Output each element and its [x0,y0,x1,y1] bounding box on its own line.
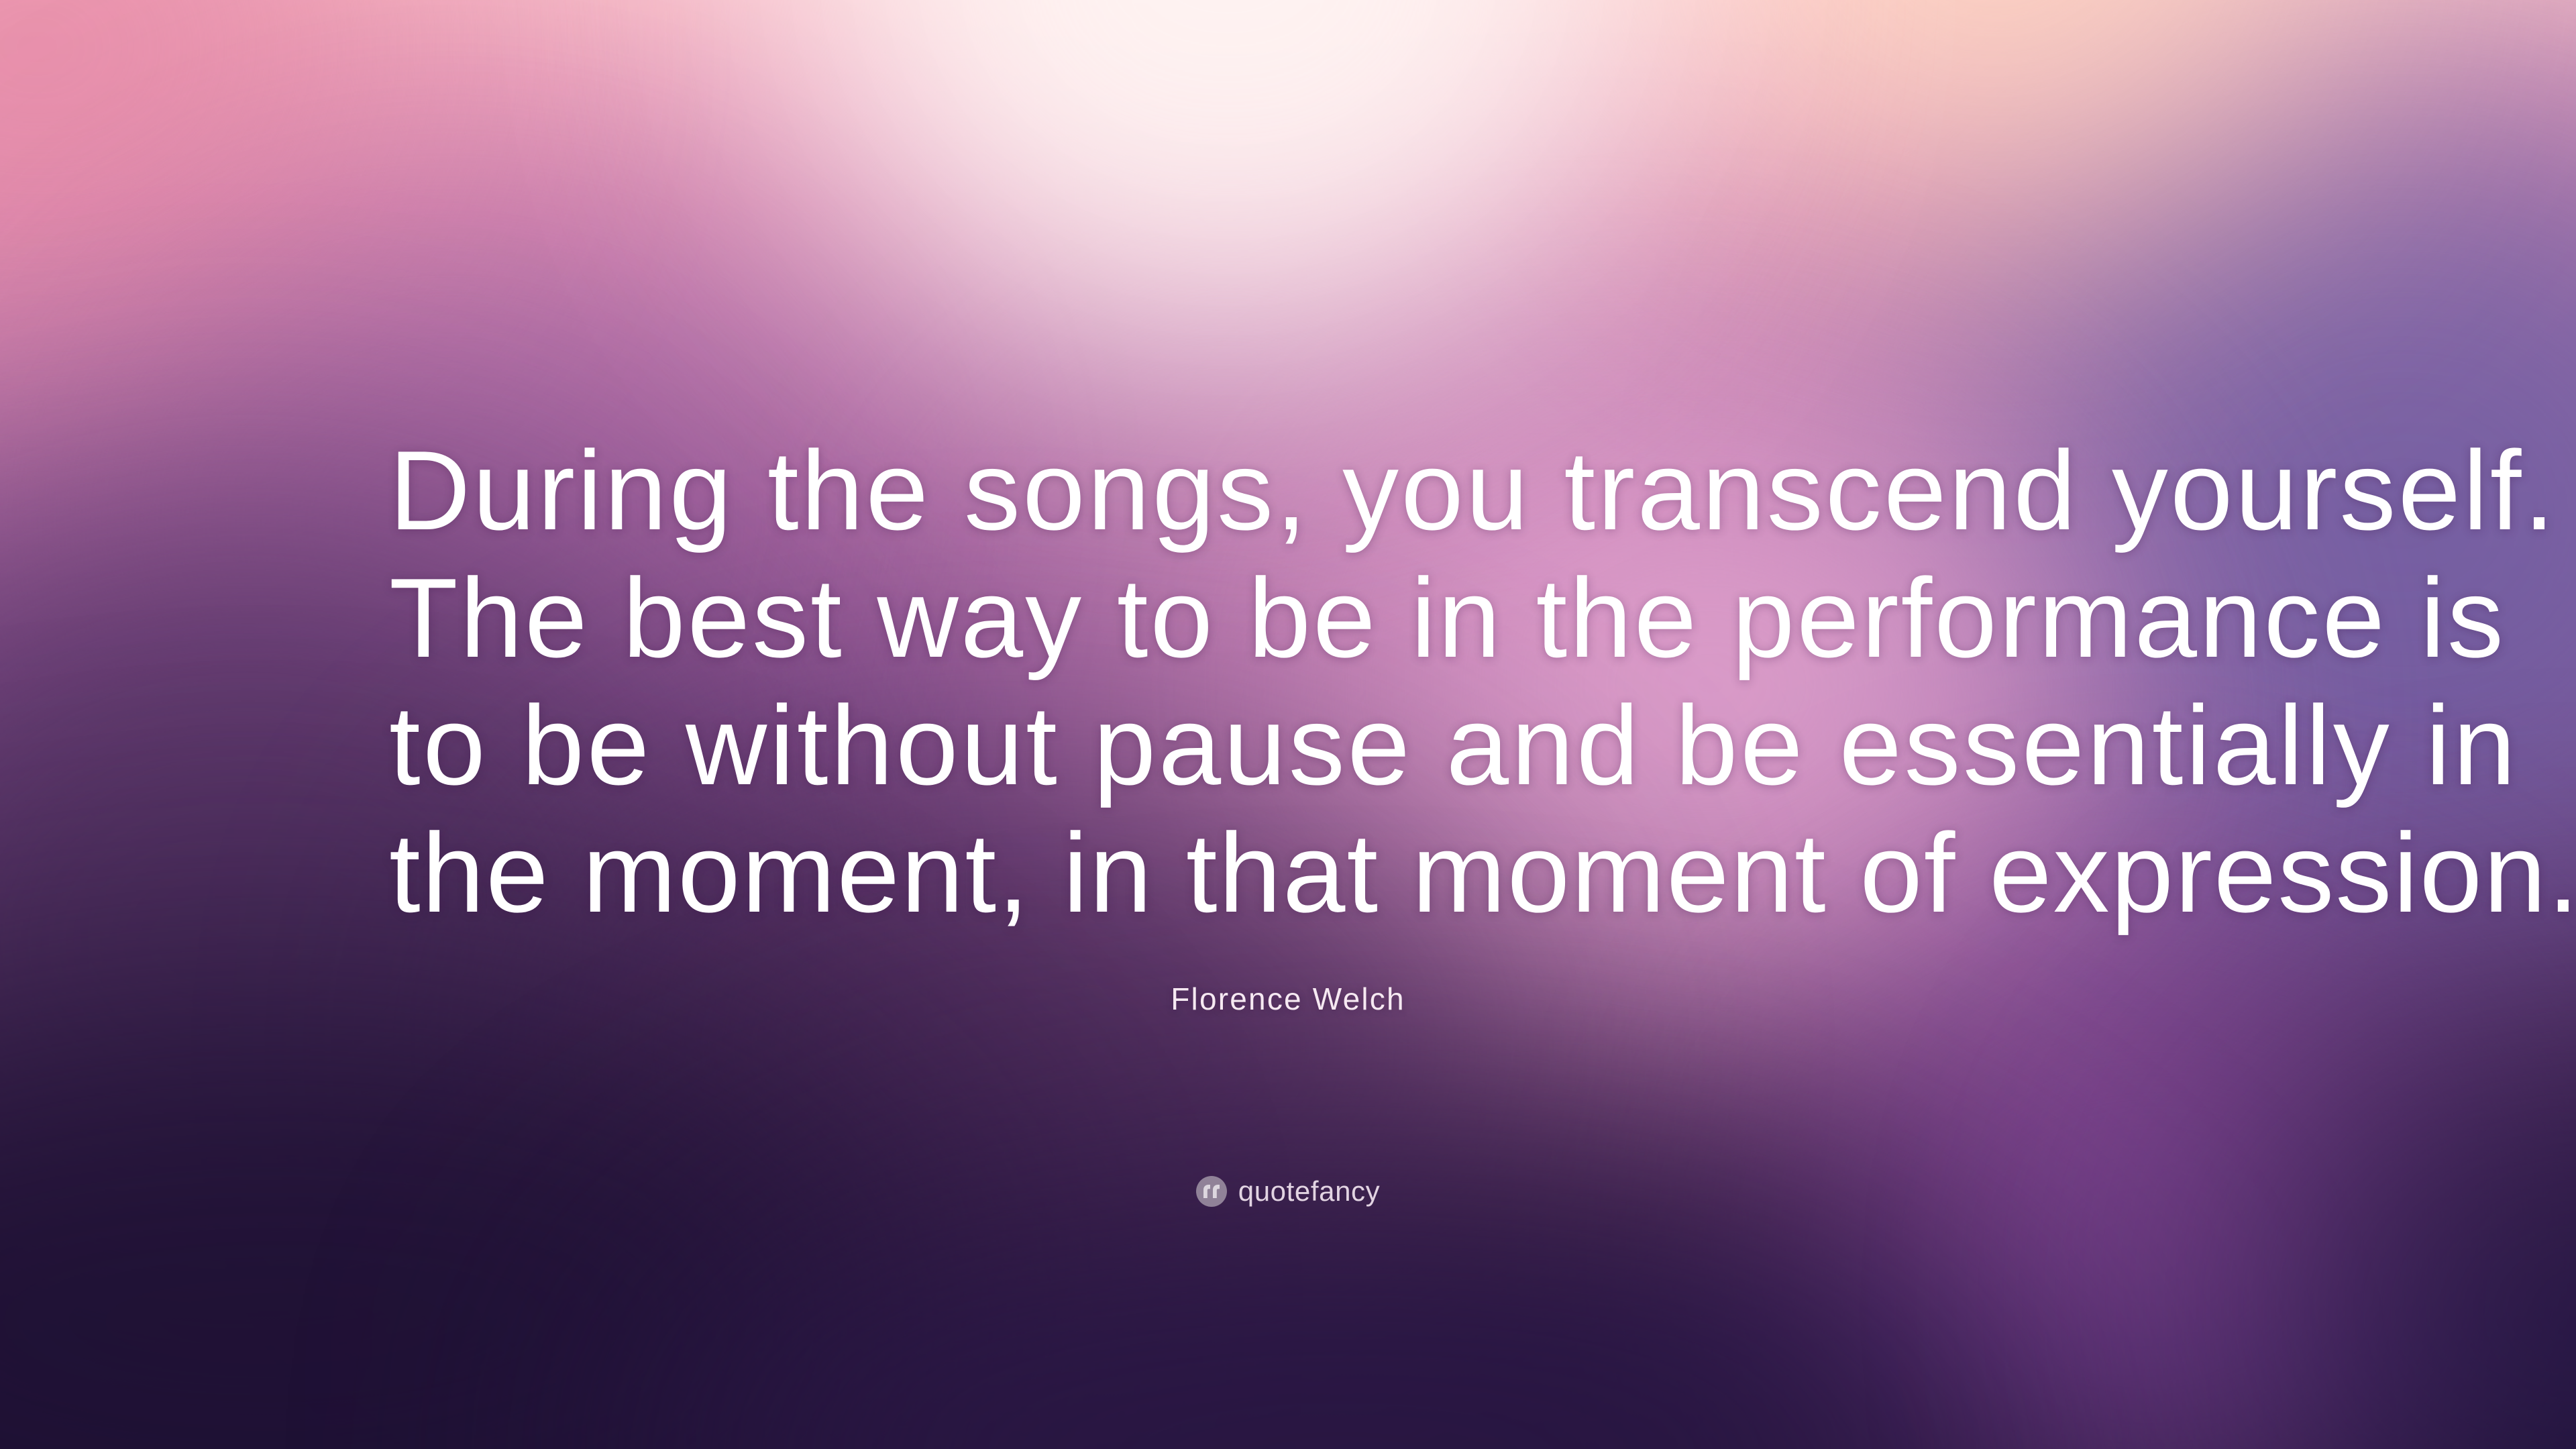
quote-line-2: The best way to be in the performance is [389,554,2244,682]
quote-line-4: the moment, in that moment of expression… [389,809,2244,936]
double-quote-icon [1196,1176,1227,1207]
watermark[interactable]: quotefancy [0,1175,2576,1207]
quote-line-3: to be without pause and be essentially i… [389,682,2244,809]
watermark-label: quotefancy [1238,1175,1381,1207]
quote-author: Florence Welch [0,981,2576,1017]
content-layer: During the songs, you transcend yourself… [0,0,2576,1449]
quote-line-1: During the songs, you transcend yourself… [389,427,2244,554]
wallpaper-canvas: During the songs, you transcend yourself… [0,0,2576,1449]
quote-text: During the songs, you transcend yourself… [389,427,2244,936]
